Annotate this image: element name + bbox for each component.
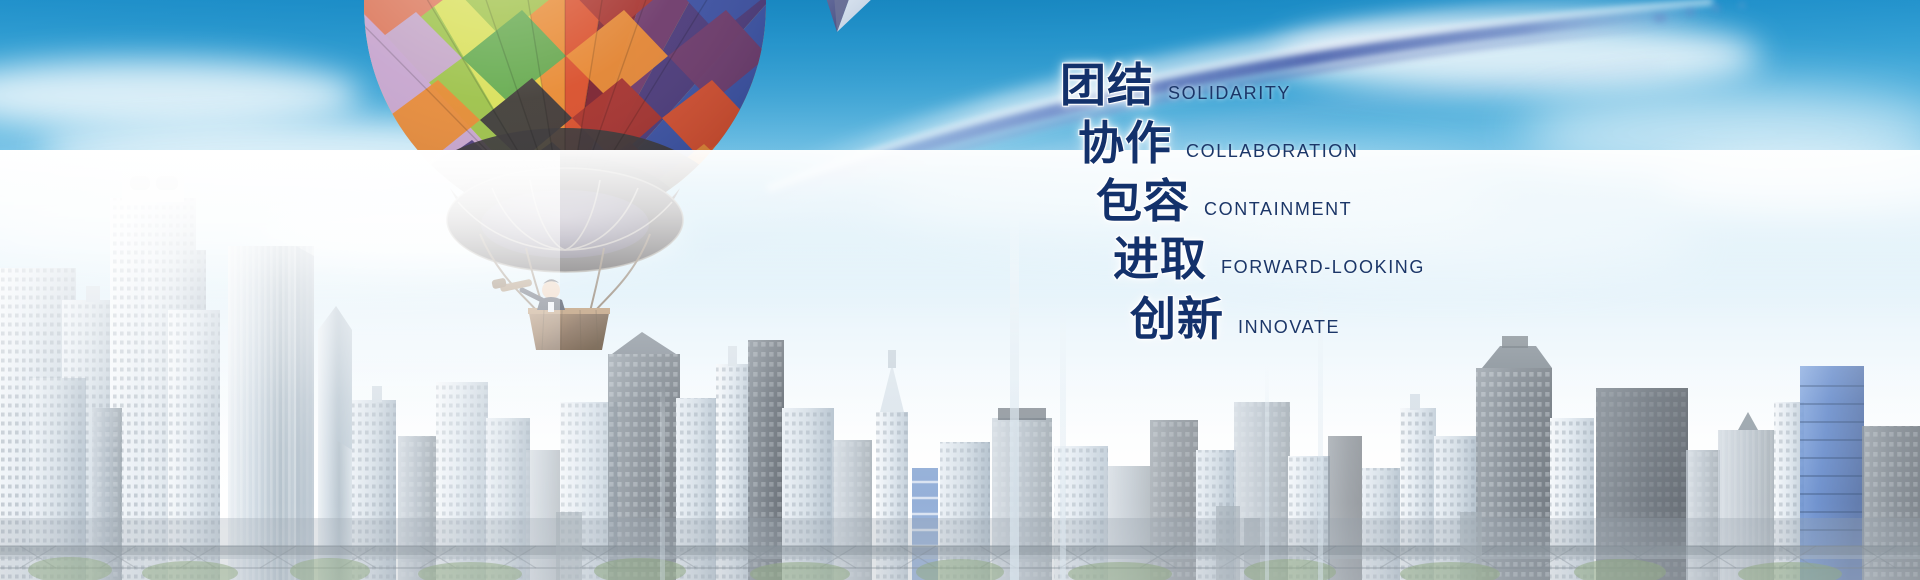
slogan-line-5: 创新 INNOVATE (1130, 296, 1760, 342)
slogan-line-2: 协作 COLLABORATION (1078, 120, 1760, 166)
slogan-cn-2: 协作 (1078, 120, 1172, 166)
culture-banner: 团结 SOLIDARITY 协作 COLLABORATION 包容 CONTAI… (0, 0, 1920, 580)
slogan-cn-4: 进取 (1113, 236, 1207, 282)
slogan-en-2: COLLABORATION (1186, 141, 1359, 162)
slogan-en-5: INNOVATE (1238, 317, 1340, 338)
slogan-line-1: 团结 SOLIDARITY (1060, 62, 1760, 108)
hazy-spire (1060, 300, 1066, 580)
slogan-line-4: 进取 FORWARD-LOOKING (1113, 236, 1760, 282)
slogan-cn-1: 团结 (1060, 62, 1154, 108)
slogan-cn-3: 包容 (1096, 178, 1190, 224)
slogan-block: 团结 SOLIDARITY 协作 COLLABORATION 包容 CONTAI… (1060, 62, 1760, 342)
slogan-line-3: 包容 CONTAINMENT (1096, 178, 1760, 224)
paper-plane-icon (795, 0, 915, 64)
slogan-en-3: CONTAINMENT (1204, 199, 1352, 220)
slogan-en-1: SOLIDARITY (1168, 83, 1291, 104)
slogan-cn-5: 创新 (1130, 296, 1224, 342)
hazy-spire (660, 385, 665, 580)
hazy-spire (1010, 210, 1019, 580)
hazy-spire (1265, 365, 1269, 580)
slogan-en-4: FORWARD-LOOKING (1221, 257, 1425, 278)
